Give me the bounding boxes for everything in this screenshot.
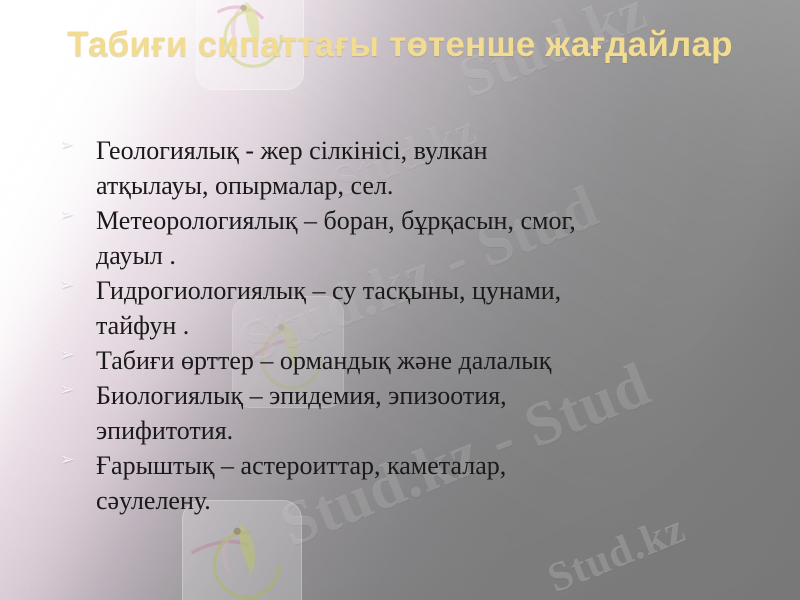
list-item: ➢ Геологиялық - жер сілкінісі, вулкан ат…	[58, 134, 770, 204]
presentation-slide: Stud.kz Stud.kz Stud.kz - Stud Stud.kz -…	[0, 0, 800, 600]
arrow-bullet-icon: ➢	[60, 452, 84, 469]
list-item-line: Метеорологиялық – боран, бұрқасын, смог,	[96, 204, 770, 239]
list-item-line: эпифитотия.	[96, 414, 770, 449]
list-item-line: Геологиялық - жер сілкінісі, вулкан	[96, 134, 770, 169]
slide-body-list: ➢ Геологиялық - жер сілкінісі, вулкан ат…	[58, 134, 770, 519]
slide-title: Табиғи сипаттағы төтенше жағдайлар	[60, 22, 740, 68]
arrow-bullet-icon: ➢	[60, 277, 84, 294]
arrow-bullet-icon: ➢	[60, 137, 84, 154]
list-item: ➢ Гидрогиологиялық – су тасқыны, цунами,…	[58, 274, 770, 344]
list-item: ➢ Биологиялық – эпидемия, эпизоотия, эпи…	[58, 379, 770, 449]
list-item-line: дауыл .	[96, 239, 770, 274]
list-item-line: тайфун .	[96, 309, 770, 344]
list-item-line: Биологиялық – эпидемия, эпизоотия,	[96, 379, 770, 414]
list-item-line: атқылауы, опырмалар, сел.	[96, 169, 770, 204]
list-item-line: Табиғи өрттер – ормандық және далалық	[96, 344, 770, 379]
list-item-line: Ғарыштық – астероиттар, каметалар,	[96, 449, 770, 484]
list-item: ➢ Метеорологиялық – боран, бұрқасын, смо…	[58, 204, 770, 274]
list-item-line: Гидрогиологиялық – су тасқыны, цунами,	[96, 274, 770, 309]
list-item-line: сәулелену.	[96, 484, 770, 519]
list-item: ➢ Ғарыштық – астероиттар, каметалар, сәу…	[58, 449, 770, 519]
list-item: ➢ Табиғи өрттер – ормандық және далалық	[58, 344, 770, 379]
arrow-bullet-icon: ➢	[60, 207, 84, 224]
arrow-bullet-icon: ➢	[60, 347, 84, 364]
arrow-bullet-icon: ➢	[60, 382, 84, 399]
